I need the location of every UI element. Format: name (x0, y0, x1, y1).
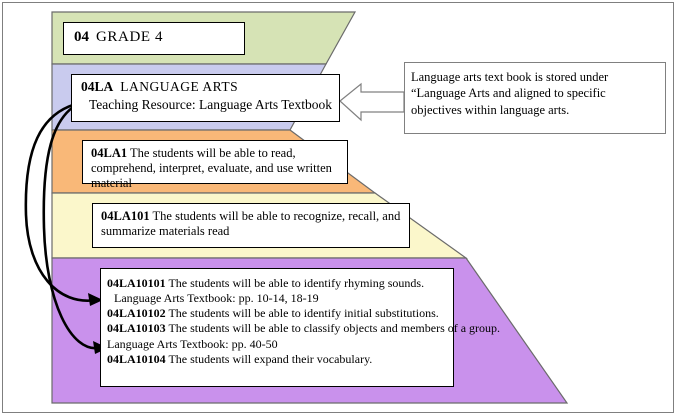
tier-code-grade: 04 (74, 29, 89, 45)
tier-label-benchmark[interactable]: 04LA101 The students will be able to rec… (92, 203, 410, 248)
objective-code: 04LA10104 (107, 352, 166, 366)
objective-line: 04LA10101 The students will be able to i… (107, 276, 448, 290)
callout-line-1: Language arts text book is stored under (411, 69, 660, 85)
diagram-canvas: 04GRADE 4 04LALANGUAGE ARTS Teaching Res… (0, 0, 677, 416)
callout-note[interactable]: Language arts text book is stored under … (404, 62, 666, 134)
tier-label-objectives[interactable]: 04LA10101 The students will be able to i… (100, 268, 454, 387)
objective-line: 04LA10104 The students will expand their… (107, 352, 448, 366)
objective-line: Language Arts Textbook: pp. 40-50 (107, 337, 448, 351)
tier-name-subject: LANGUAGE ARTS (120, 79, 238, 94)
objective-text: The students will be able to identify in… (168, 306, 438, 320)
tier-label-grade[interactable]: 04GRADE 4 (63, 22, 245, 55)
tier-label-subject[interactable]: 04LALANGUAGE ARTS Teaching Resource: Lan… (71, 74, 340, 122)
tier-code-subject: 04LA (81, 79, 113, 94)
objective-text: Language Arts Textbook: pp. 10-14, 18-19 (114, 291, 319, 305)
objective-code: 04LA10102 (107, 306, 166, 320)
tier-code-standard: 04LA1 (91, 146, 127, 160)
tier-label-standard[interactable]: 04LA1 The students will be able to read,… (82, 140, 348, 184)
tier-code-benchmark: 04LA101 (101, 209, 150, 223)
tier-name-standard: The students will be able to read, compr… (91, 146, 332, 190)
objective-text: The students will expand their vocabular… (168, 352, 372, 366)
objective-line: Language Arts Textbook: pp. 10-14, 18-19 (107, 291, 448, 305)
tier-resource-subject: Teaching Resource: Language Arts Textboo… (89, 97, 339, 113)
objective-line: 04LA10103 The students will be able to c… (107, 321, 448, 335)
callout-line-3: objectives within language arts. (411, 102, 660, 118)
callout-line-2: “Language Arts and aligned to specific (411, 85, 660, 101)
callout-arrow-icon (340, 84, 404, 120)
objective-code: 04LA10101 (107, 276, 166, 290)
objective-line: 04LA10102 The students will be able to i… (107, 306, 448, 320)
objective-text: The students will be able to classify ob… (168, 321, 500, 335)
tier-name-grade: GRADE 4 (96, 29, 163, 45)
objective-text: The students will be able to identify rh… (168, 276, 424, 290)
objective-code: 04LA10103 (107, 321, 166, 335)
objective-text: Language Arts Textbook: pp. 40-50 (107, 337, 278, 351)
